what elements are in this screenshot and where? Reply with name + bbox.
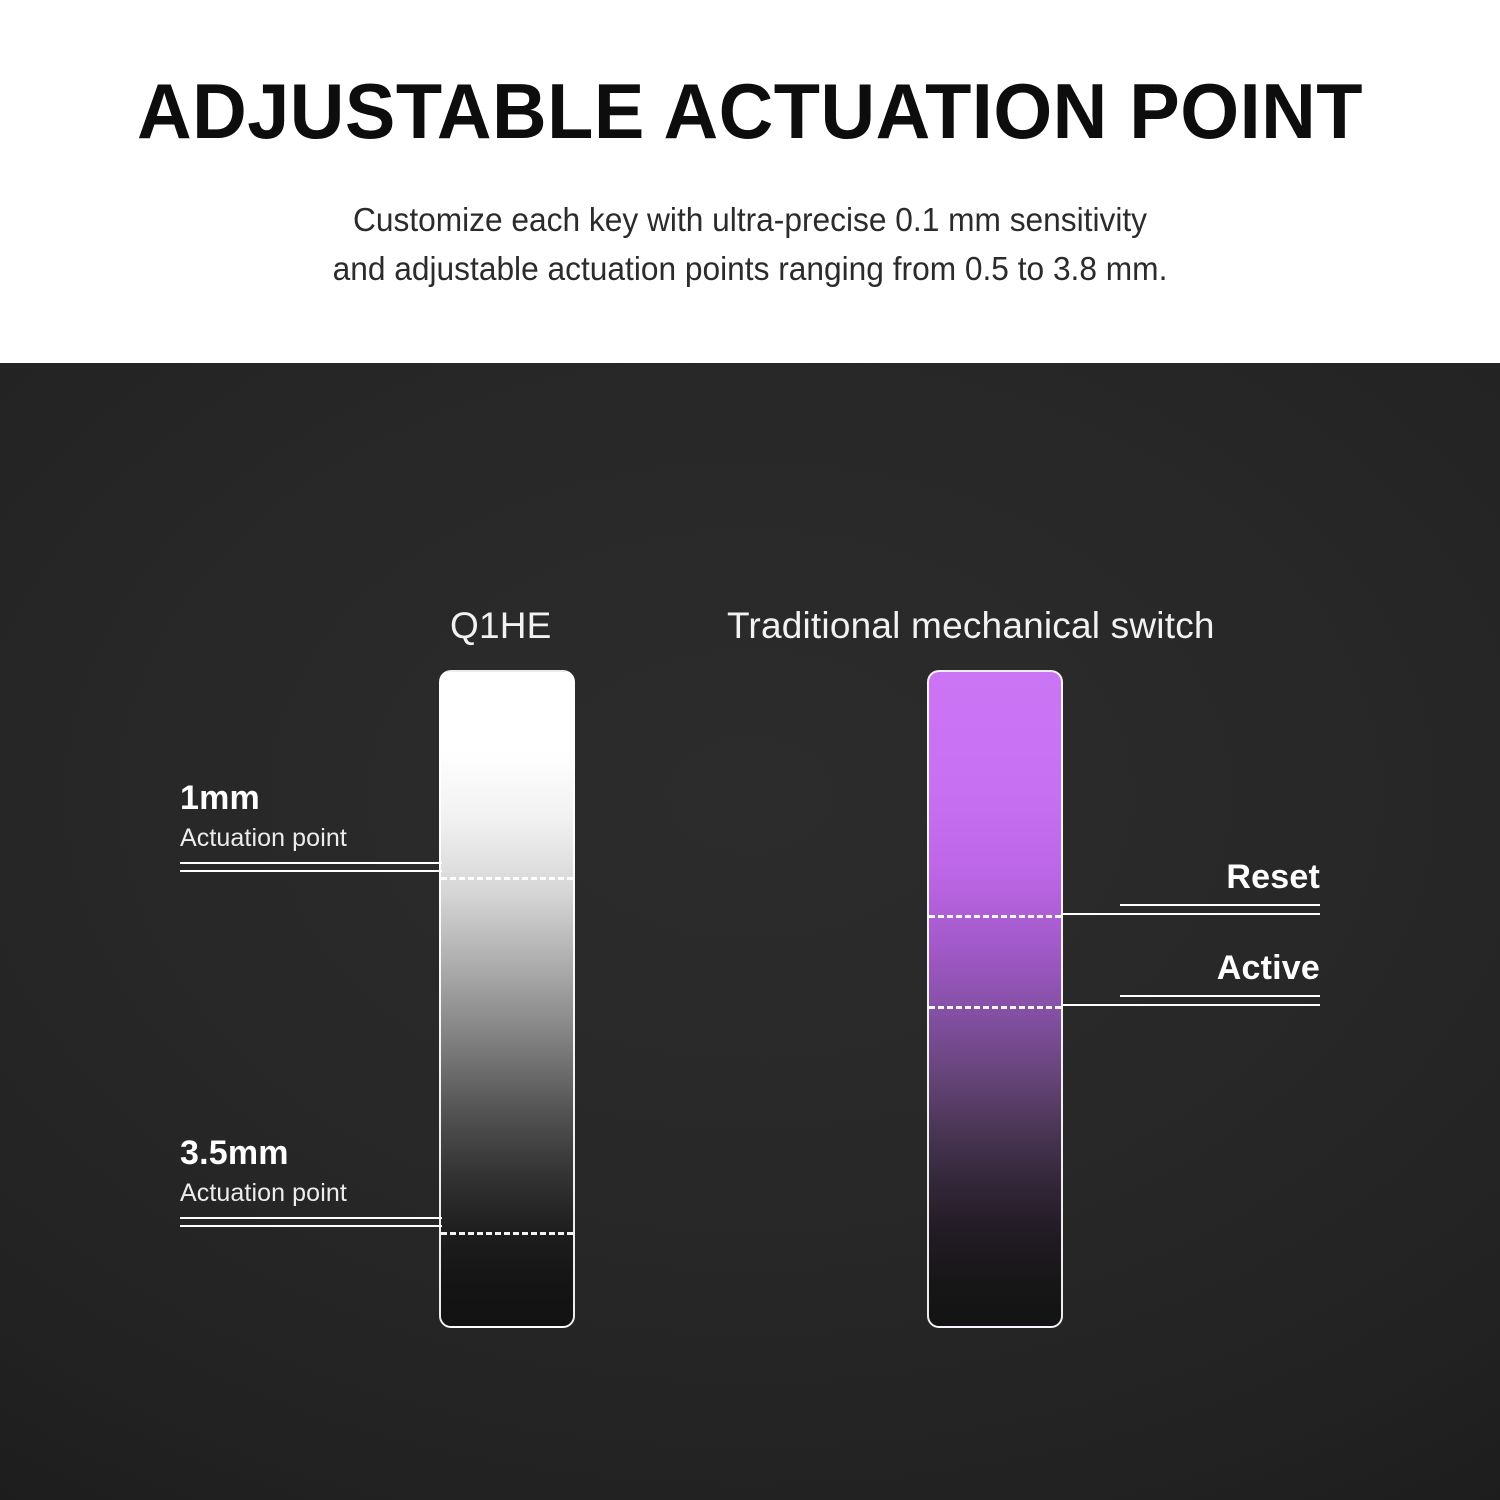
leader-line-3point5mm xyxy=(180,1225,442,1227)
q1he-travel-bar xyxy=(439,670,575,1328)
callout-1mm-value: 1mm xyxy=(180,781,442,817)
callout-1mm-rule xyxy=(180,862,442,864)
traditional-reset-marker xyxy=(929,915,1061,918)
traditional-travel-bar xyxy=(927,670,1063,1328)
callout-1mm-description: Actuation point xyxy=(180,823,442,853)
callout-active-rule xyxy=(1120,995,1320,997)
column-heading-q1he: Q1HE xyxy=(450,605,552,647)
traditional-active-marker xyxy=(929,1006,1061,1009)
leader-line-active xyxy=(1063,1004,1320,1006)
leader-line-1mm xyxy=(180,870,442,872)
callout-1mm: 1mm Actuation point xyxy=(180,781,442,864)
actuation-diagram: Q1HE Traditional mechanical switch 1mm A… xyxy=(0,363,1500,1500)
column-heading-traditional: Traditional mechanical switch xyxy=(727,605,1215,647)
page-subtitle-line-2: and adjustable actuation points ranging … xyxy=(174,245,1326,294)
callout-active: Active xyxy=(1120,951,1320,997)
callout-reset: Reset xyxy=(1120,860,1320,906)
q1he-actuation-marker-1mm xyxy=(441,877,573,880)
page-subtitle-line-1: Customize each key with ultra-precise 0.… xyxy=(174,196,1326,245)
callout-3point5mm-description: Actuation point xyxy=(180,1178,442,1208)
callout-reset-value: Reset xyxy=(1120,860,1320,896)
page-title: ADJUSTABLE ACTUATION POINT xyxy=(137,72,1363,150)
callout-3point5mm: 3.5mm Actuation point xyxy=(180,1136,442,1219)
q1he-actuation-marker-3point5mm xyxy=(441,1232,573,1235)
callout-active-value: Active xyxy=(1120,951,1320,987)
callout-reset-rule xyxy=(1120,904,1320,906)
hero-banner: ADJUSTABLE ACTUATION POINT Customize eac… xyxy=(0,0,1500,363)
callout-3point5mm-value: 3.5mm xyxy=(180,1136,442,1172)
leader-line-reset xyxy=(1063,913,1320,915)
callout-3point5mm-rule xyxy=(180,1217,442,1219)
page-subtitle: Customize each key with ultra-precise 0.… xyxy=(174,196,1326,294)
